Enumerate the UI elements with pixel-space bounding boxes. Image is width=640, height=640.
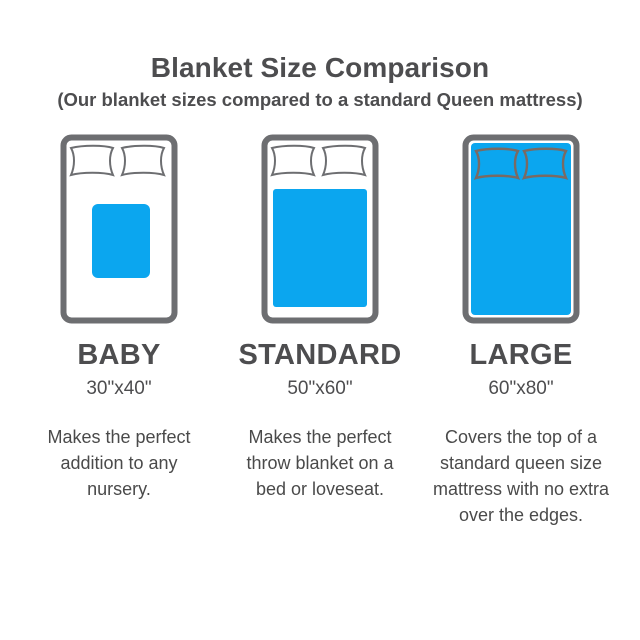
size-dimensions-large: 60"x80" xyxy=(488,379,553,398)
bed-diagram-large xyxy=(426,134,616,329)
comparison-column-large: LARGE 60"x80" Covers the top of a standa… xyxy=(426,134,616,528)
page-title: Blanket Size Comparison xyxy=(0,52,640,83)
pillow-left-icon xyxy=(272,145,314,174)
bed-diagram-baby xyxy=(24,134,214,329)
blanket-area-baby xyxy=(92,204,150,278)
comparison-columns: BABY 30"x40" Makes the perfect addition … xyxy=(0,134,640,528)
pillow-right-icon xyxy=(323,145,365,174)
large-bed-illustration xyxy=(462,134,580,324)
comparison-column-standard: STANDARD 50"x60" Makes the perfect throw… xyxy=(225,134,415,502)
standard-bed-illustration xyxy=(261,134,379,324)
comparison-column-baby: BABY 30"x40" Makes the perfect addition … xyxy=(24,134,214,502)
size-dimensions-standard: 50"x60" xyxy=(287,379,352,398)
bed-diagram-standard xyxy=(225,134,415,329)
baby-bed-illustration xyxy=(60,134,178,324)
page-subtitle: (Our blanket sizes compared to a standar… xyxy=(0,89,640,111)
pillow-left-icon xyxy=(71,145,113,174)
size-description-large: Covers the top of a standard queen size … xyxy=(431,424,611,528)
pillow-right-icon xyxy=(122,145,164,174)
header: Blanket Size Comparison (Our blanket siz… xyxy=(0,0,640,112)
size-name-baby: BABY xyxy=(77,341,160,370)
size-description-standard: Makes the perfect throw blanket on a bed… xyxy=(230,424,410,502)
size-name-standard: STANDARD xyxy=(239,341,402,370)
size-description-baby: Makes the perfect addition to any nurser… xyxy=(29,424,209,502)
infographic-page: Blanket Size Comparison (Our blanket siz… xyxy=(0,0,640,640)
blanket-area-standard xyxy=(273,189,367,307)
blanket-area-large xyxy=(471,143,571,315)
size-dimensions-baby: 30"x40" xyxy=(86,379,151,398)
size-name-large: LARGE xyxy=(470,341,573,370)
